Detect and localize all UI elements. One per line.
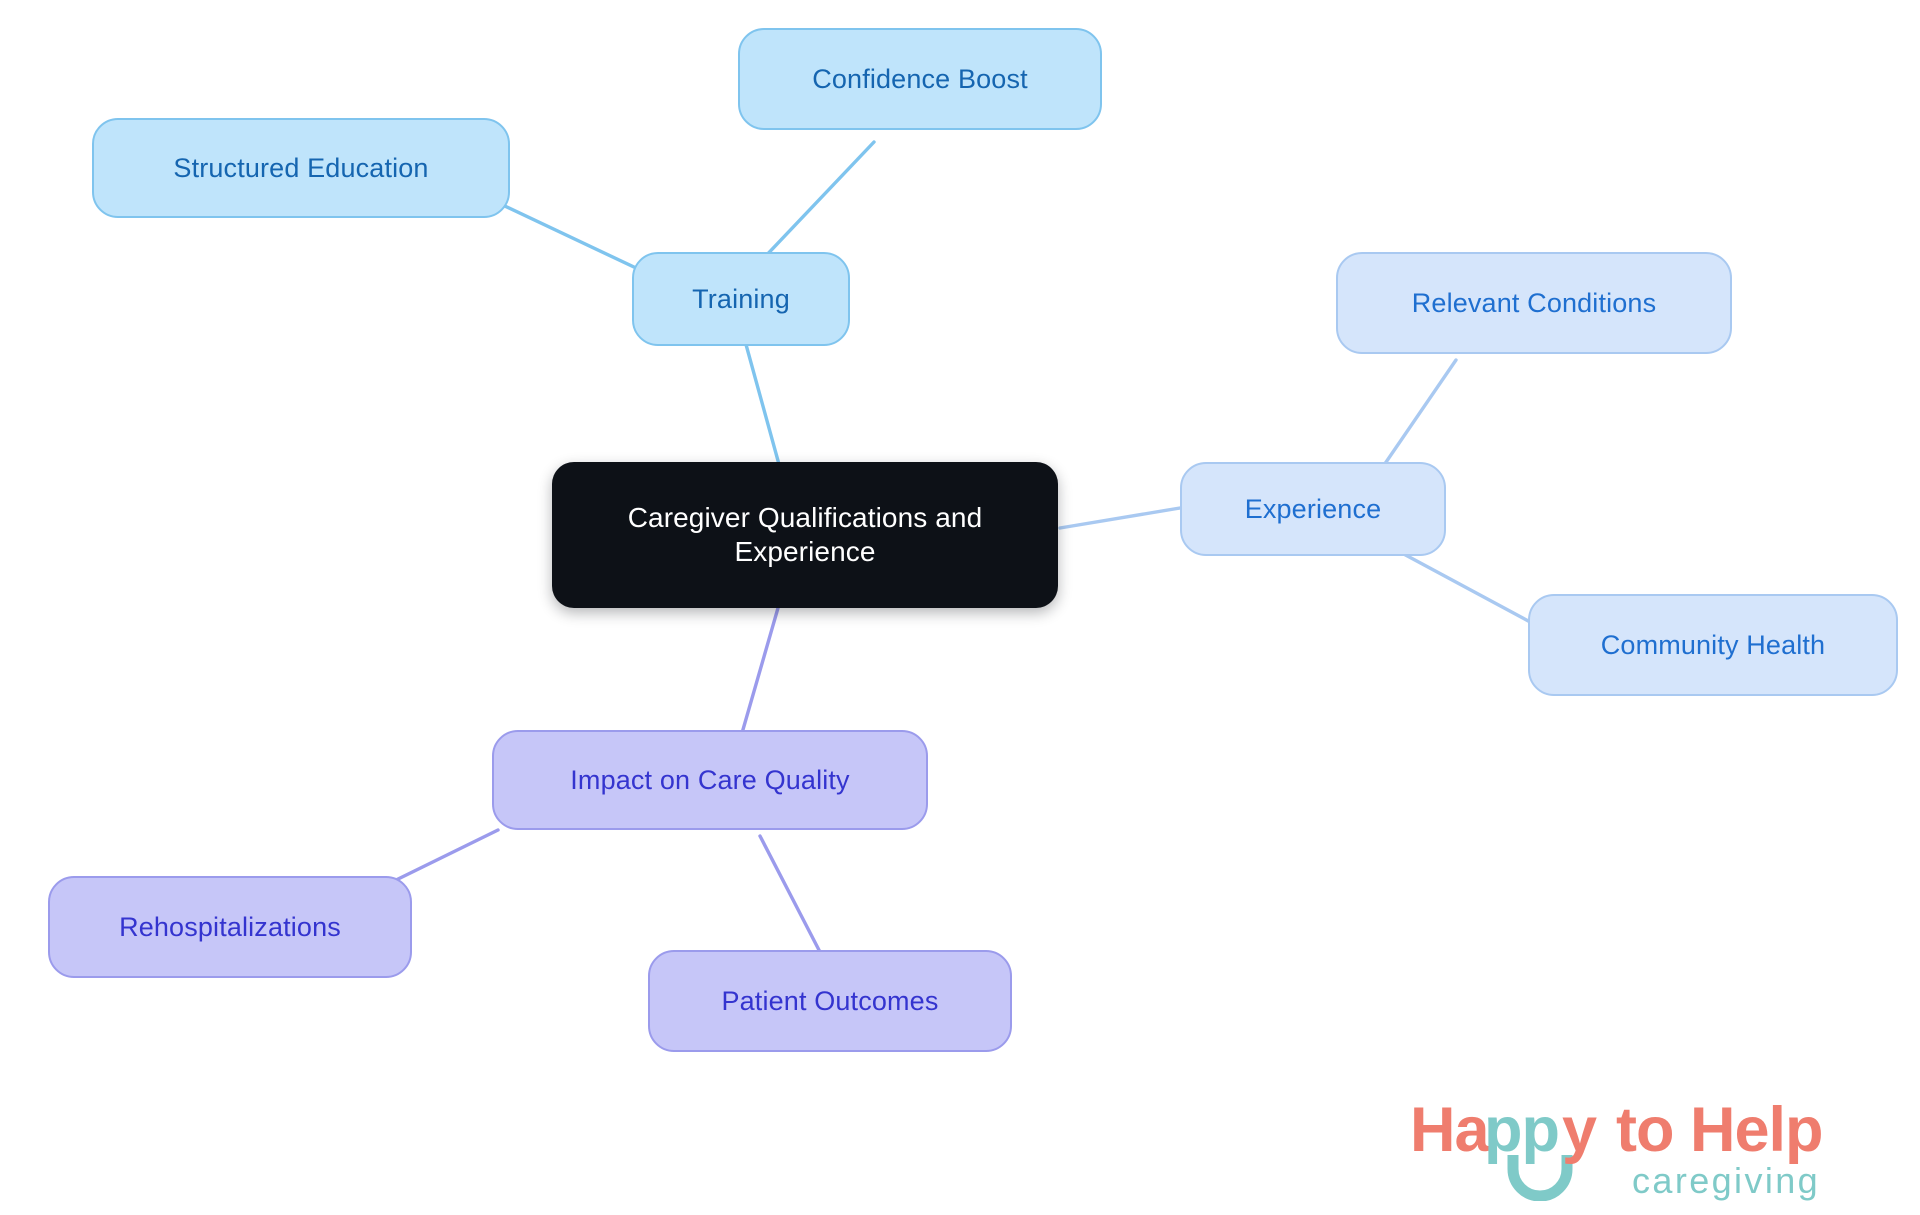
edge-root-training [742,330,780,468]
root-node[interactable]: Caregiver Qualifications and Experience [552,462,1058,608]
leaf-node-structured-education[interactable]: Structured Education [92,118,510,218]
leaf-node-relevant-conditions[interactable]: Relevant Conditions [1336,252,1732,354]
branch-node-experience-label: Experience [1245,493,1382,526]
edge-root-impact [740,608,778,740]
leaf-node-rehospitalizations-label: Rehospitalizations [119,911,341,944]
mind-map-canvas: Caregiver Qualifications and Experience … [0,0,1920,1215]
branch-node-training-label: Training [692,283,790,316]
leaf-node-patient-outcomes-label: Patient Outcomes [721,985,938,1018]
branch-node-training[interactable]: Training [632,252,850,346]
edge-impact-patient-outcomes [760,836,820,952]
root-node-label: Caregiver Qualifications and Experience [586,501,1024,569]
edge-root-experience [1060,508,1180,528]
leaf-node-relevant-conditions-label: Relevant Conditions [1412,287,1657,320]
edge-experience-community-health [1400,552,1545,630]
leaf-node-community-health-label: Community Health [1601,629,1825,662]
logo-letter-y: y [1562,1095,1597,1165]
logo-word-caregiving: caregiving [1632,1160,1820,1201]
leaf-node-structured-education-label: Structured Education [173,152,428,185]
logo-word-to-help: to Help [1616,1095,1823,1165]
branch-node-impact-on-care-quality[interactable]: Impact on Care Quality [492,730,928,830]
edge-training-confidence-boost [760,142,874,262]
edge-impact-rehospitalizations [392,830,498,882]
leaf-node-confidence-boost-label: Confidence Boost [812,63,1028,96]
leaf-node-rehospitalizations[interactable]: Rehospitalizations [48,876,412,978]
edge-training-structured-education [492,200,636,268]
branch-node-experience[interactable]: Experience [1180,462,1446,556]
logo-letters-pp: pp [1484,1095,1559,1165]
branch-node-impact-on-care-quality-label: Impact on Care Quality [570,764,849,797]
leaf-node-community-health[interactable]: Community Health [1528,594,1898,696]
edge-experience-relevant-conditions [1382,360,1456,468]
leaf-node-patient-outcomes[interactable]: Patient Outcomes [648,950,1012,1052]
happy-to-help-logo: Ha pp y to Help caregiving [1410,1093,1880,1201]
logo-word-happy: Ha [1410,1095,1490,1165]
leaf-node-confidence-boost[interactable]: Confidence Boost [738,28,1102,130]
